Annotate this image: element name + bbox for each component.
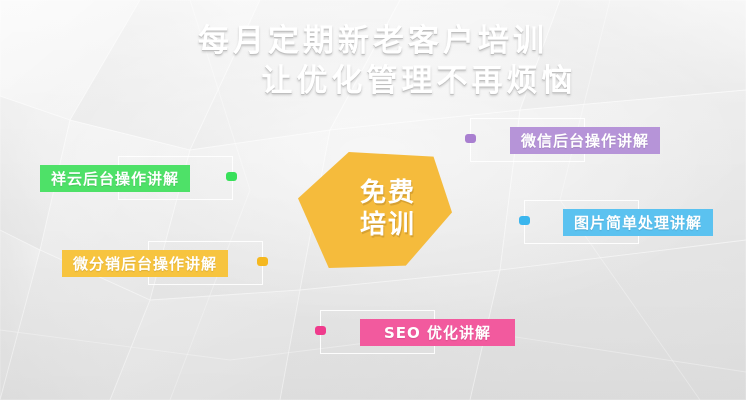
connector-dot-xiangyun [226, 172, 237, 181]
headline-line-2: 让优化管理不再烦恼 [0, 62, 746, 102]
connector-dot-tupian [519, 216, 530, 225]
promo-banner: 每月定期新老客户培训 让优化管理不再烦恼 祥云后台操作讲解 微分销后台操作讲解 … [0, 0, 746, 400]
topic-pill-tupian[interactable]: 图片简单处理讲解 [563, 209, 713, 236]
free-training-hexagon[interactable] [298, 152, 452, 268]
topic-label-tupian: 图片简单处理讲解 [574, 212, 702, 233]
topic-pill-weixin[interactable]: 微信后台操作讲解 [510, 127, 660, 154]
connector-dot-weixin [465, 134, 476, 143]
topic-label-seo: SEO 优化讲解 [384, 322, 491, 343]
connector-dot-weifenxiao [257, 257, 268, 266]
topic-label-weixin: 微信后台操作讲解 [521, 130, 649, 151]
topic-label-weifenxiao: 微分销后台操作讲解 [73, 253, 217, 274]
connector-dot-seo [315, 326, 326, 335]
topic-label-xiangyun: 祥云后台操作讲解 [51, 168, 179, 189]
topic-pill-seo[interactable]: SEO 优化讲解 [360, 319, 515, 346]
topic-pill-xiangyun[interactable]: 祥云后台操作讲解 [40, 165, 190, 192]
topic-pill-weifenxiao[interactable]: 微分销后台操作讲解 [62, 250, 228, 277]
headline-block: 每月定期新老客户培训 让优化管理不再烦恼 [0, 22, 746, 101]
headline-line-1: 每月定期新老客户培训 [0, 22, 746, 62]
